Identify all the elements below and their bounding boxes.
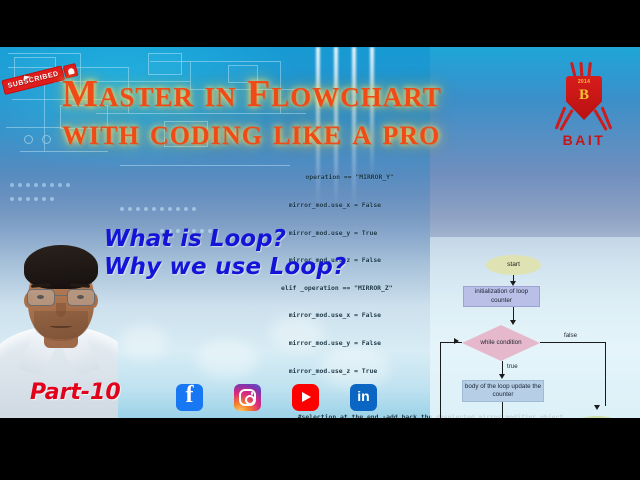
edge-body-down (502, 402, 503, 418)
logo-wing-left-icon (557, 106, 579, 134)
youtube-icon[interactable] (292, 384, 319, 411)
instagram-icon[interactable] (234, 384, 261, 411)
edge-loop-left (440, 342, 441, 418)
flow-node-start: start (486, 255, 541, 275)
linkedin-icon[interactable] (350, 384, 377, 411)
logo-year: 2014 (566, 79, 602, 85)
edge-label-true: true (507, 363, 518, 370)
flow-node-init: initialization of loop counter (463, 286, 540, 307)
title-block: Master in Flowchart with coding like a p… (62, 75, 560, 152)
facebook-icon[interactable] (176, 384, 203, 411)
flowchart-diagram: start initialization of loop counter whi… (430, 237, 640, 418)
logo-monogram: B (566, 87, 602, 104)
bokeh-blob (196, 339, 258, 379)
page-title-line1: Master in Flowchart (62, 75, 560, 114)
hair (24, 245, 98, 289)
bokeh-blob (120, 325, 168, 359)
arrow-down-icon (499, 374, 505, 379)
flow-node-body: body of the loop update the counter (462, 380, 544, 402)
subtitle-line2: Why we use Loop? (104, 253, 464, 281)
bait-logo: 2014 B BAIT (553, 62, 615, 154)
edge-condition-false (540, 342, 606, 343)
arrow-down-icon (510, 320, 516, 325)
arrow-right-icon (454, 338, 459, 344)
page-title-line2: with coding like a pro (62, 114, 560, 152)
social-links (176, 384, 377, 411)
logo-name: BAIT (553, 132, 615, 148)
thumbnail-canvas: operation == "MIRROR_Y" mirror_mod.use_x… (0, 47, 640, 418)
video-thumbnail-frame: operation == "MIRROR_Y" mirror_mod.use_x… (0, 0, 640, 480)
subtitle-block: What is Loop? Why we use Loop? (104, 225, 464, 281)
edge-init-to-condition (513, 307, 514, 321)
nose (56, 303, 66, 317)
cursor-icon (23, 76, 31, 82)
arrow-down-icon (594, 405, 600, 410)
mouth (50, 323, 72, 328)
edge-false-down (605, 342, 606, 406)
edge-label-false: false (564, 332, 577, 339)
logo-wing-right-icon (589, 106, 611, 134)
subtitle-line1: What is Loop? (104, 225, 464, 253)
part-label: Part-10 (30, 380, 121, 405)
